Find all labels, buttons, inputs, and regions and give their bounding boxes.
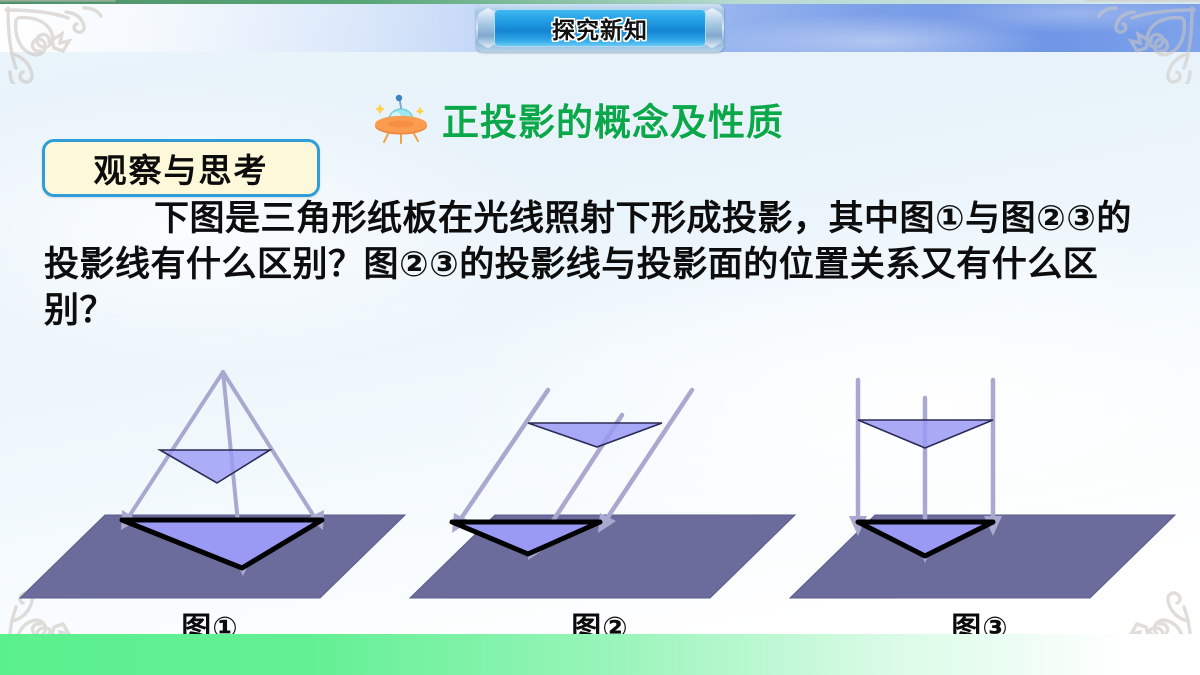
- figure-orthographic-projection: 图③: [780, 360, 1180, 650]
- observe-and-think-box: 观察与思考: [42, 139, 320, 197]
- top-bar-cloud-texture: [680, 0, 1200, 52]
- section-heading-label: 正投影的概念及性质: [442, 92, 784, 146]
- observe-and-think-label: 观察与思考: [94, 144, 269, 192]
- figure-central-projection: 图①: [10, 360, 410, 650]
- slide-canvas: 探究新知: [0, 0, 1200, 675]
- section-badge-label: 探究新知: [552, 11, 648, 45]
- figure-oblique-projection: 图②: [400, 360, 800, 650]
- bottom-decoration-bar: [0, 634, 1200, 675]
- question-body-text: 下图是三角形纸板在光线照射下形成投影，其中图①与图②③的投影线有什么区别？图②③…: [44, 196, 1164, 335]
- section-badge: 探究新知: [476, 4, 724, 52]
- section-heading: 正投影的概念及性质: [372, 92, 784, 146]
- badge-inner: 探究新知: [494, 9, 706, 47]
- figure-group: 图① 图②: [0, 360, 1200, 650]
- ufo-icon: [372, 93, 430, 145]
